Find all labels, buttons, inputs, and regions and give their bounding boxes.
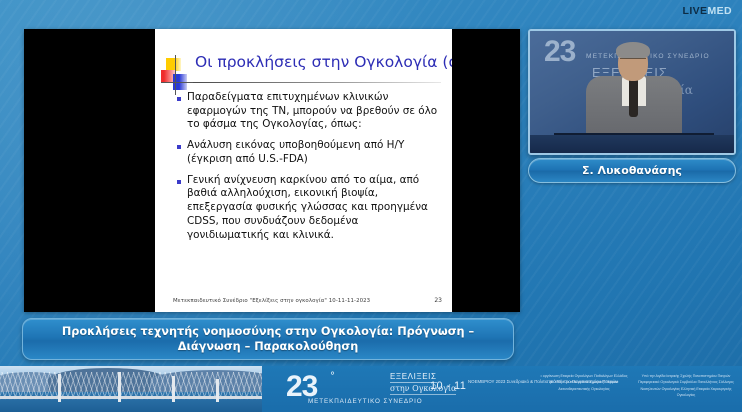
list-item: Ανάλυση εικόνας υποβοηθούμενη από Η/Υ (έ…	[177, 139, 442, 166]
podium	[530, 135, 734, 153]
speaker-hair	[616, 42, 650, 59]
webinar-viewer: LIVEMED Οι προκλήσεις στην Ογκολογία (συ…	[0, 0, 742, 412]
bridge-pylon	[118, 372, 121, 402]
list-item: Παραδείγματα επιτυχημένων κλινικών εφαρμ…	[177, 91, 442, 132]
top-bar: LIVEMED	[0, 0, 742, 26]
organizers-left: • οργάνωση Εταιρεία Ογκολόγων Παθολόγων …	[540, 373, 628, 392]
congress-footer: 23 ° ΜΕΤΕΚΠΑΙΔΕΥΤΙΚΟ ΣΥΝΕΔΡΙΟ ΕΞΕΛΙΞΕΙΣ …	[0, 366, 742, 412]
speaker-tie	[629, 79, 638, 117]
speaker-video[interactable]: 23 ΜΕΤΕΚΠΑΙΔΕΥΤΙΚΟ ΣΥΝΕΔΡΙΟ ΕΞΕΛΙΞΕΙΣ λο…	[528, 29, 736, 155]
presentation-slide: Οι προκλήσεις στην Ογκολογία (συν.) Παρα…	[155, 29, 452, 312]
slide-bullet-list: Παραδείγματα επιτυχημένων κλινικών εφαρμ…	[177, 91, 442, 249]
speaker-name-badge: Σ. Λυκοθανάσης	[528, 158, 736, 183]
slide-title: Οι προκλήσεις στην Ογκολογία (συν.)	[195, 54, 446, 71]
slide-page-number: 23	[434, 297, 442, 304]
organizers-right: Υπό την Αιγίδα Ιατρικής Σχολής Πανεπιστη…	[636, 373, 736, 398]
backdrop-number: 23	[544, 35, 575, 69]
speaker-glasses-icon	[620, 58, 646, 63]
bridge-pylon	[216, 379, 219, 402]
presentation-title-banner: Προκλήσεις τεχνητής νοημοσύνης στην Ογκο…	[22, 318, 514, 360]
bridge-photo	[0, 366, 262, 412]
ornament-horizontal-line	[161, 82, 195, 83]
ornament-vertical-line	[175, 55, 176, 95]
bullet-text: Γενική ανίχνευση καρκίνου από το αίμα, α…	[187, 174, 442, 243]
brand-med: MED	[707, 5, 732, 17]
brand-live: LIVE	[683, 5, 708, 17]
bridge-deck	[0, 396, 262, 399]
bullet-marker-icon	[177, 180, 181, 184]
slide-title-rule	[193, 82, 441, 83]
video-frame: 23 ΜΕΤΕΚΠΑΙΔΕΥΤΙΚΟ ΣΥΝΕΔΡΙΟ ΕΞΕΛΙΞΕΙΣ λο…	[530, 31, 734, 153]
slide-ornament-icon	[161, 55, 195, 95]
speaker-name-label: Σ. Λυκοθανάσης	[582, 164, 682, 177]
bullet-text: Ανάλυση εικόνας υποβοηθούμενη από Η/Υ (έ…	[187, 139, 442, 166]
bullet-marker-icon	[177, 97, 181, 101]
bridge-pylon	[58, 374, 61, 402]
livemed-logo: LIVEMED	[683, 5, 733, 17]
bullet-text: Παραδείγματα επιτυχημένων κλινικών εφαρμ…	[187, 91, 442, 132]
slide-footer: Μετεκπαιδευτικό Συνέδριο "Εξελίξεις στην…	[173, 297, 442, 304]
congress-label: ΜΕΤΕΚΠΑΙΔΕΥΤΙΚΟ ΣΥΝΕΔΡΙΟ	[308, 398, 423, 405]
presentation-title-label: Προκλήσεις τεχνητής νοημοσύνης στην Ογκο…	[37, 324, 499, 355]
bullet-marker-icon	[177, 145, 181, 149]
slide-stage[interactable]: Οι προκλήσεις στην Ογκολογία (συν.) Παρα…	[24, 29, 520, 312]
slide-footer-text: Μετεκπαιδευτικό Συνέδριο "Εξελίξεις στην…	[173, 298, 370, 304]
bridge-pylon	[172, 376, 175, 402]
list-item: Γενική ανίχνευση καρκίνου από το αίμα, α…	[177, 174, 442, 243]
congress-dates: 10 - 11	[430, 380, 466, 392]
congress-degree: °	[330, 371, 335, 382]
